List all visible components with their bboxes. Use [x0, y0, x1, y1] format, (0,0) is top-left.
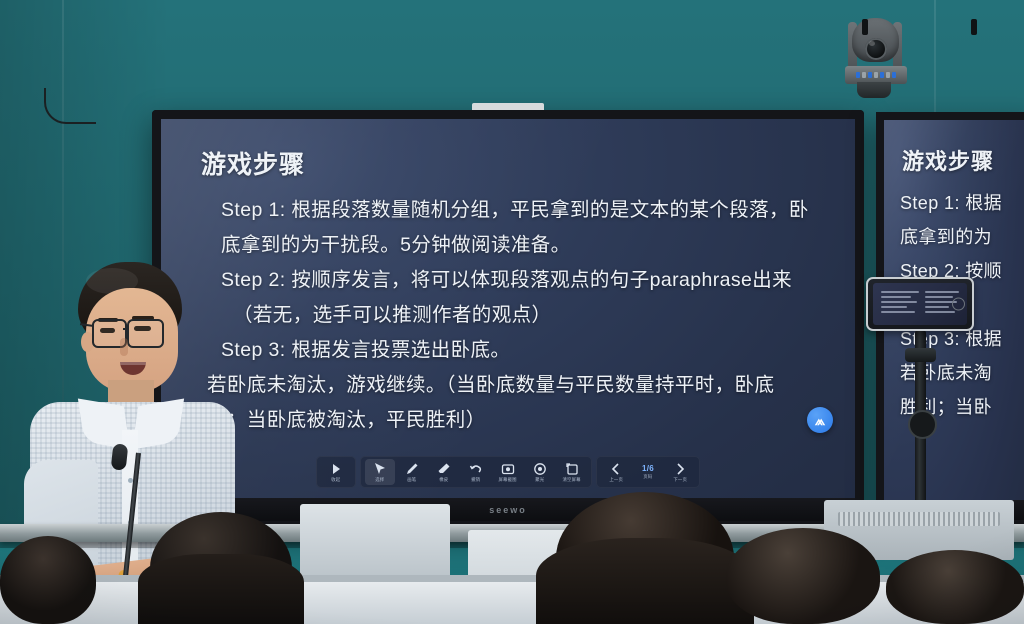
phone-clamp-right: [971, 19, 977, 35]
glasses-icon: [127, 319, 164, 348]
audience-head: [886, 550, 1024, 624]
camera-cable: [44, 88, 96, 124]
audience-head: [726, 528, 880, 624]
camera-lens-icon: [865, 38, 887, 60]
audience-head: [150, 512, 292, 624]
audience-head: [0, 536, 96, 624]
camera-status-leds: [856, 72, 896, 78]
camera-head: [852, 18, 899, 62]
interactive-whiteboard-display[interactable]: 游戏步骤 Step 1: 根据段落数量随机分组，平民拿到的是文本的某个段落，卧 …: [152, 110, 864, 530]
presenter-nose: [120, 338, 128, 356]
classroom-presentation-scene: 游戏步骤 Step 1: 根据段落数量随机分组，平民拿到的是文本的某个段落，卧 …: [0, 0, 1024, 624]
glasses-bridge: [123, 328, 128, 330]
tripod-knob: [905, 348, 936, 362]
camera-mount: [857, 82, 891, 98]
phone-camera-icon: [952, 298, 965, 311]
ptz-camera: [843, 8, 909, 100]
laptop-screen-rear: [300, 504, 450, 582]
smartphone-on-tripod[interactable]: [866, 277, 974, 331]
audience-head: [556, 492, 734, 624]
phone-clamp-left: [862, 19, 868, 35]
display-bezel: [152, 110, 864, 530]
tripod-ring: [908, 410, 937, 439]
monitor-vent: [838, 512, 1000, 526]
